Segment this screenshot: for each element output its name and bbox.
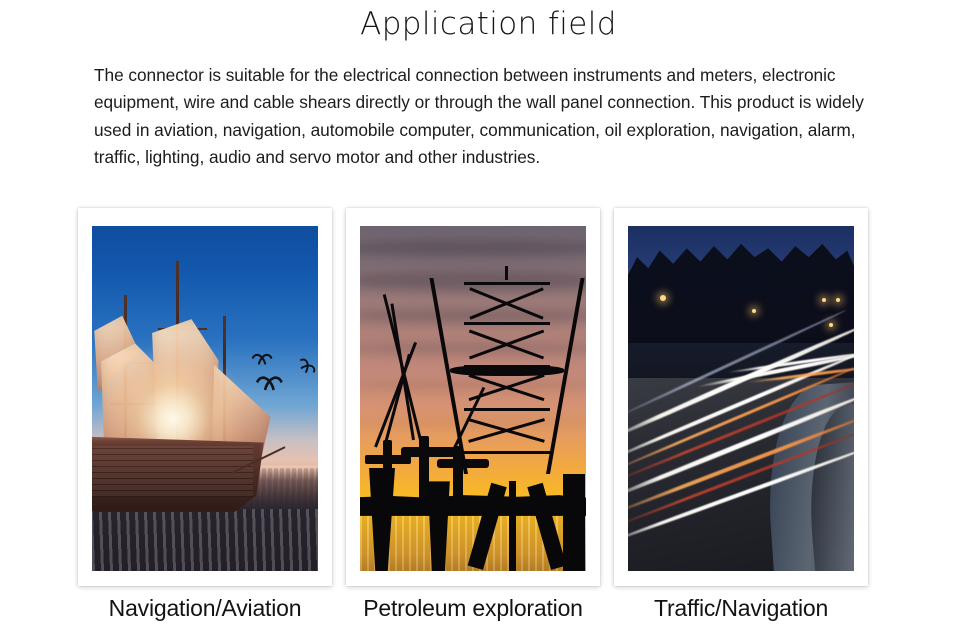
seagull-icon	[253, 376, 283, 390]
application-field-page: Application field The connector is suita…	[0, 0, 977, 633]
caption-petroleum-exploration: Petroleum exploration	[346, 588, 600, 632]
gallery-card-navigation-aviation[interactable]	[78, 208, 332, 586]
derrick-crown	[505, 266, 508, 280]
gallery-card-row	[78, 208, 868, 586]
cloud-band	[360, 240, 586, 256]
intro-paragraph: The connector is suitable for the electr…	[94, 62, 884, 172]
ocean-foam	[92, 509, 318, 571]
derrick-rung	[464, 322, 550, 325]
gallery-card-petroleum-exploration[interactable]	[346, 208, 600, 586]
caption-traffic-navigation: Traffic/Navigation	[614, 588, 868, 632]
light-trail-group	[628, 226, 854, 571]
highway-light-trails-photo	[628, 226, 854, 571]
tall-ship-at-sea-photo	[92, 226, 318, 571]
gallery-caption-row: Navigation/Aviation Petroleum exploratio…	[78, 588, 868, 632]
ship-hull	[92, 436, 264, 512]
rig-piling	[563, 474, 585, 571]
derrick-platform	[450, 365, 564, 376]
oil-rig-silhouette-photo	[360, 226, 586, 571]
caption-navigation-aviation: Navigation/Aviation	[78, 588, 332, 632]
derrick-rung	[464, 282, 550, 285]
light-trail	[628, 308, 847, 425]
background-watermark	[176, 176, 476, 192]
rig-piling	[509, 481, 516, 571]
derrick-rung	[464, 451, 550, 454]
seagull-icon	[250, 353, 273, 364]
derrick-rung	[464, 408, 550, 411]
gallery-card-traffic-navigation[interactable]	[614, 208, 868, 586]
oil-derrick-tower	[464, 278, 550, 474]
page-title: Application field	[0, 2, 977, 46]
crane-mast	[419, 436, 429, 502]
